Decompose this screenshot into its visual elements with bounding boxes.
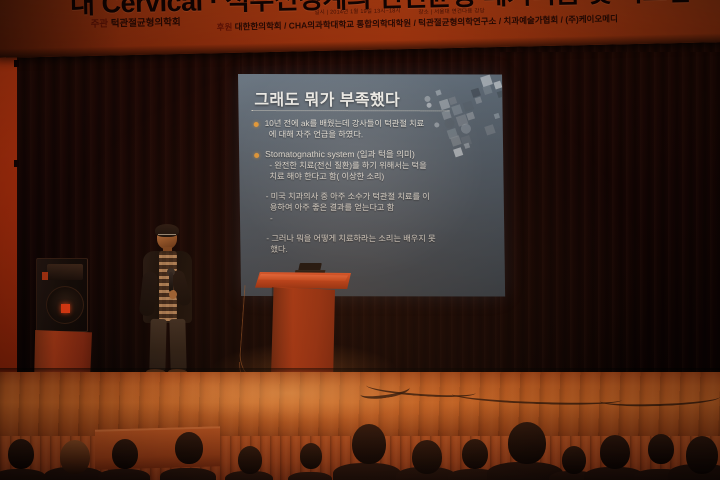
projection-screen: 그래도 뭐가 부족했다 10년 전에 ak를 배웠는데 강사들이 턱관절 치료에… bbox=[238, 74, 505, 296]
mosaic-tile bbox=[474, 97, 482, 105]
audience-head bbox=[352, 424, 386, 464]
slide-line: 했다. bbox=[266, 244, 496, 255]
slide-bullet-row: 10년 전에 ak를 배웠는데 강사들이 턱관절 치료에 대해 자주 언급을 하… bbox=[251, 118, 495, 140]
slide-bullet-row: - 그러나 뭐을 어떻게 치료하라는 소리는 배우지 못했다. bbox=[252, 233, 496, 255]
bullet-dot-icon bbox=[254, 122, 259, 127]
slide-spacer bbox=[251, 140, 495, 149]
slide-spacer bbox=[252, 224, 496, 233]
slide-line: - 미국 치과의사 중 아주 소수가 턱관절 치료를 이 bbox=[266, 191, 496, 202]
audience-head bbox=[600, 435, 630, 469]
glasses-icon bbox=[158, 234, 176, 238]
pa-speaker-cabinet bbox=[36, 258, 88, 332]
presenter-leg-left bbox=[149, 319, 166, 371]
slide-line: - 완전한 치료(전신 질환)를 하기 위해서는 턱을 bbox=[265, 160, 495, 171]
presenter-leg-right bbox=[169, 319, 186, 371]
mosaic-tile bbox=[426, 102, 432, 108]
audience-head bbox=[508, 422, 546, 464]
mosaic-tile bbox=[451, 104, 462, 115]
audience-shoulders bbox=[160, 468, 216, 480]
audience-head bbox=[462, 439, 488, 469]
banner-host-label: 주관 bbox=[91, 19, 109, 30]
slide-line: 에 대해 자주 언급을 하였다. bbox=[265, 129, 495, 140]
audience-shoulders bbox=[0, 469, 46, 480]
mosaic-tile bbox=[483, 85, 493, 95]
wall-accent-strip bbox=[0, 48, 17, 393]
slide-block: - 그러나 뭐을 어떻게 치료하라는 소리는 배우지 못했다. bbox=[252, 233, 496, 255]
pa-speaker-horn bbox=[47, 264, 83, 280]
slide-title: 그래도 뭐가 부족했다 bbox=[254, 86, 400, 110]
pa-side-logo bbox=[42, 272, 48, 280]
audience-head bbox=[175, 432, 203, 464]
banner-host-org: 턱관절균형의학회 bbox=[111, 17, 181, 30]
slide-title-divider bbox=[252, 110, 450, 111]
presenter-legs bbox=[149, 319, 189, 374]
slide-line: - 그러나 뭐을 어떻게 치료하라는 소리는 배우지 못 bbox=[266, 233, 496, 244]
banner-coop-label: 후원 bbox=[217, 22, 233, 32]
mosaic-tile bbox=[463, 101, 474, 112]
slide-line: Stomatognathic system (입과 턱을 의미) bbox=[265, 149, 495, 160]
mosaic-tile bbox=[435, 89, 441, 95]
audience-head bbox=[60, 440, 90, 474]
presentation-slide: 그래도 뭐가 부족했다 10년 전에 ak를 배웠는데 강사들이 턱관절 치료에… bbox=[238, 74, 505, 296]
audience-head bbox=[300, 443, 322, 469]
audience-head bbox=[238, 446, 262, 474]
audience-head bbox=[412, 440, 442, 474]
slide-line: 10년 전에 ak를 배웠는데 강사들이 턱관절 치료 bbox=[265, 118, 495, 129]
audience-head bbox=[686, 436, 718, 474]
audience-head bbox=[648, 434, 674, 464]
slide-line: 용하여 아주 좋은 결과를 얻는다고 함 bbox=[266, 202, 496, 213]
presenter-hand bbox=[169, 290, 177, 299]
slide-bullet-row: Stomatognathic system (입과 턱을 의미)- 완전한 치료… bbox=[251, 149, 495, 182]
slide-block: Stomatognathic system (입과 턱을 의미)- 완전한 치료… bbox=[251, 149, 495, 182]
slide-block: 10년 전에 ak를 배웠는데 강사들이 턱관절 치료에 대해 자주 언급을 하… bbox=[251, 118, 495, 140]
pa-brand-logo bbox=[61, 304, 70, 313]
audience-shoulders bbox=[98, 469, 150, 480]
mosaic-tile bbox=[493, 81, 502, 90]
slide-bullet-row: - 미국 치과의사 중 아주 소수가 턱관절 치료를 이용하여 아주 좋은 결과… bbox=[252, 191, 496, 224]
audience-shoulders bbox=[288, 472, 332, 480]
stage-photo-scene: 대 Cervical · 적추신경계의 전신균형 메커니즘 및 치료법 주관 턱… bbox=[0, 0, 720, 480]
audience-shoulders bbox=[333, 463, 401, 480]
lectern-body-shading bbox=[271, 287, 293, 379]
banner-place-meta: 장소 | 서울대 연건다용 강당 bbox=[418, 6, 485, 15]
audience-head bbox=[562, 446, 586, 474]
slide-spacer bbox=[253, 255, 497, 264]
slide-body: 10년 전에 ak를 배웠는데 강사들이 턱관절 치료에 대해 자주 언급을 하… bbox=[251, 118, 497, 264]
slide-line: - bbox=[266, 213, 496, 224]
banner-host: 주관 턱관절균형의학회 bbox=[90, 14, 180, 30]
slide-block: - 미국 치과의사 중 아주 소수가 턱관절 치료를 이용하여 아주 좋은 결과… bbox=[252, 191, 496, 224]
microphone-body bbox=[169, 272, 173, 292]
stage-curtain-right bbox=[500, 52, 720, 400]
presenter bbox=[133, 226, 205, 386]
audience-row bbox=[0, 424, 720, 480]
slide-spacer bbox=[252, 182, 496, 191]
bullet-dot-icon bbox=[254, 153, 259, 158]
banner-date-meta: 일시 | 2014년 1월 19일 13시~18시 bbox=[314, 6, 401, 16]
slide-line: 치료 해야 한다고 함( 이상한 소리) bbox=[265, 171, 495, 182]
audience-head bbox=[8, 439, 34, 469]
audience-head bbox=[112, 439, 138, 469]
